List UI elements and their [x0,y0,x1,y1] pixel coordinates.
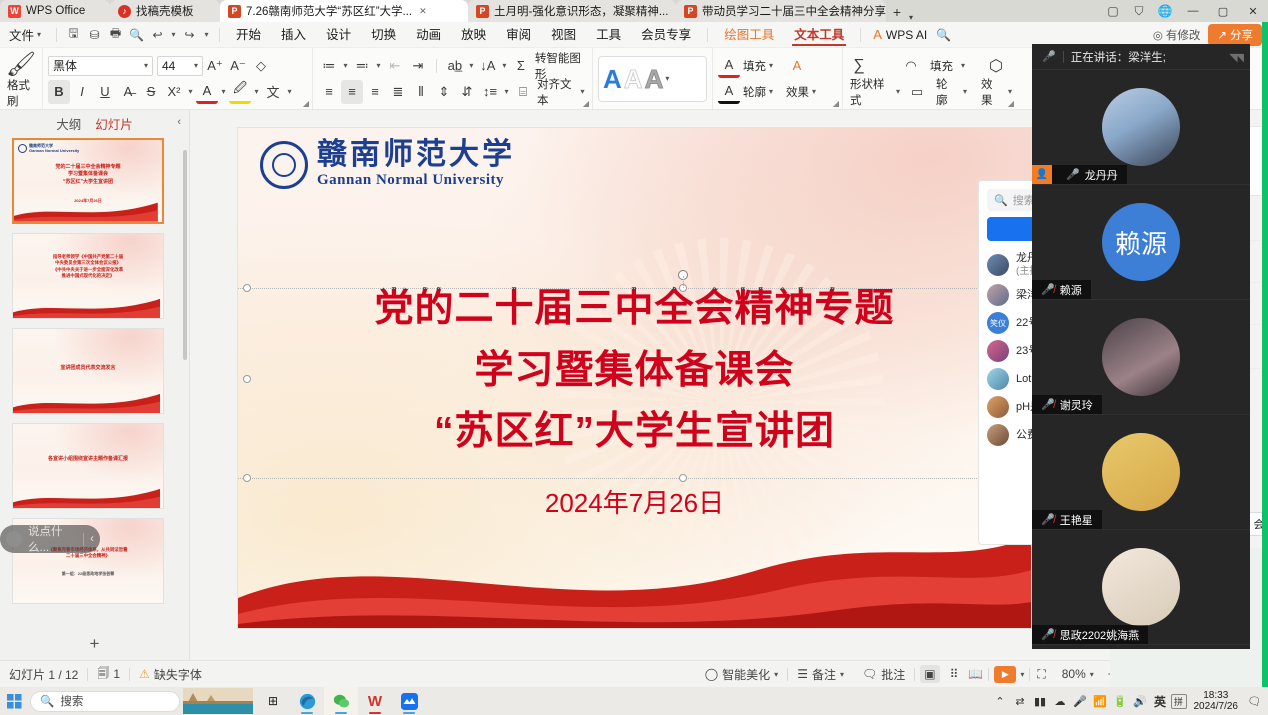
undo-icon[interactable]: ↩ [147,24,168,45]
thumb-logo-text: 赣南师范大学Gannan Normal University [29,144,79,153]
align-left-icon[interactable]: ≡ [318,80,340,104]
active-indicator [403,712,415,714]
logo-text-block: 赣南师范大学 Gannan Normal University [317,140,515,189]
mic-off-icon: 🎤̸ [1032,283,1055,296]
video-tile[interactable]: 赖源 🎤̸ 赖源 [1032,185,1250,300]
wps-office-window: W WPS Office ♪ 找稿壳模板 P 7.26赣南师范大学“苏区红”大学… [0,0,1268,715]
wifi-icon[interactable]: 📶 [1091,687,1110,715]
notes-toggle-button[interactable]: ☰ 备注 ▾ [788,666,853,683]
shape-style-label[interactable]: 形状样式 [848,76,890,108]
divider [83,533,84,546]
slide-title-textbox[interactable]: 党的二十届三中全会精神专题 学习暨集体备课会 “苏区红”大学生宣讲团 [238,278,1031,463]
ribbon-group-font: 黑体 ▾ 44 ▾ A⁺ A⁻ ◇ B I U A̶ S X² ▾ A [42,48,312,109]
warning-icon: ⚠ [139,667,150,681]
strikethrough-button[interactable]: S [140,80,162,104]
taskbar-search-input[interactable]: 🔍 搜索 [30,691,180,712]
maximize-button[interactable]: ▢ [1208,0,1238,22]
tab-review[interactable]: 审阅 [496,22,541,48]
slide-counter: 幻灯片 1 / 12 [0,666,87,683]
participant-name: 王艳星 [1060,512,1093,528]
increase-paragraph-spacing-icon[interactable]: ⇕ [433,80,455,104]
divider [219,28,220,42]
wps-icon: W [8,5,21,18]
collapse-pane-icon[interactable]: ‹ [177,116,181,128]
wordart-style-2[interactable]: A [624,66,643,92]
italic-button[interactable]: I [71,80,93,104]
share-label: 分享 [1230,27,1253,43]
split-view-icon[interactable]: ▢ [1100,0,1126,22]
close-icon[interactable]: ✕ [419,6,427,17]
tab-wps-office[interactable]: W WPS Office [0,0,110,22]
chevron-up-icon[interactable]: ⌃ [991,687,1010,715]
customize-quick-access-icon[interactable]: ▾ [200,24,213,45]
divider [860,28,861,42]
ai-sparkle-icon: A [873,27,882,42]
tab-start[interactable]: 开始 [226,22,271,48]
search-icon: 🔍 [994,194,1008,207]
increase-font-size-icon[interactable]: A⁺ [204,54,226,78]
ribbon-group-text-style: A 填充 ▾ A A 轮廓 ▾ 效果 ▾ ◢ [712,48,842,109]
weather-widget[interactable] [180,687,256,715]
shape-fill-icon[interactable]: ◠ [900,54,922,78]
format-painter-label: 格式刷 [5,77,37,109]
settings-icon[interactable]: ⇄ [1011,687,1030,715]
share-icon: ↗ [1217,28,1227,42]
font-color-icon[interactable]: A [196,80,218,104]
comment-icon: 🗨 [862,667,877,681]
text-outline-label[interactable]: 轮廓 [741,84,768,100]
chat-collapse-icon[interactable]: ‹ [90,533,94,545]
language-count: 1 [113,667,120,681]
avatar [1102,548,1180,626]
chevron-down-icon[interactable]: ▾ [963,87,967,96]
active-indicator [301,712,313,714]
search-placeholder: 搜索 [60,693,83,709]
system-tray: ⌃ ⇄ ▮▮ ☁ 🎤 📶 🔋 🔊 英 拼 18:33 2024/7/26 🗨 [991,687,1268,715]
avatar-initials: 赖源 [1102,203,1180,281]
participant-name: 赖源 [1060,282,1082,298]
slide-thumb-4[interactable]: 各宣讲小组围绕宣讲主题作备课汇报 [12,423,164,509]
selection-guide-bottom [238,478,1031,479]
red-dot-icon: ♪ [118,5,131,18]
avatar [987,340,1009,362]
chat-placeholder: 说点什么... [28,523,77,555]
text-fill-icon[interactable]: A [718,54,740,78]
text-style-dialog-launcher[interactable]: ◢ [833,99,839,108]
tab-label: 带动员学习二十届三中全会精神分享... [702,3,886,19]
chevron-down-icon: ▾ [144,61,148,70]
task-view-icon[interactable]: ⊞ [256,687,290,715]
slideshow-play-button[interactable]: ▶ ▾ [989,666,1029,683]
resize-handle-top-left[interactable] [243,284,251,292]
selection-guide-top [238,288,1031,289]
numbered-list-icon[interactable]: ≕ [351,54,373,78]
shape-outline-icon[interactable]: ▭ [906,80,928,104]
comment-label: 批注 [881,666,905,683]
thumb-subtitle: 第一组：22级思政地学张芸藜 [13,571,163,577]
logo-chinese-name: 赣南师范大学 [317,140,515,170]
avatar [1102,318,1180,396]
font-dialog-launcher[interactable]: ◢ [303,99,309,108]
underline-button[interactable]: U [94,80,116,104]
meeting-icon[interactable] [392,687,426,715]
tab-slides[interactable]: 幻灯片 [95,114,133,133]
zoom-level[interactable]: 80% ▾ [1053,667,1103,681]
mic-icon: 🎤 [1042,50,1056,63]
notes-icon: ☰ [797,667,808,681]
chevron-down-icon[interactable]: ▾ [377,61,381,70]
missing-font-warning[interactable]: ⚠ 缺失字体 [130,666,211,683]
chevron-down-icon[interactable]: ▾ [896,87,900,96]
mic-off-icon: 🎤̸ [1032,628,1055,641]
search-icon[interactable]: 🔍 [933,24,954,45]
redo-icon: ↪ [179,24,200,45]
wordart-style-1[interactable]: A [603,66,622,92]
chevron-down-icon[interactable]: ▾ [469,61,473,70]
divider [436,59,437,73]
file-menu[interactable]: 文件 ▾ [0,25,50,44]
text-fill-label[interactable]: 填充 [741,58,768,74]
slide-thumb-1[interactable]: 赣南师范大学Gannan Normal University 党的二十届三中全会… [12,138,164,224]
participant-name: 谢灵玲 [1060,397,1093,413]
thumbnail-item[interactable]: 宣讲团成员代表交流发言 [12,328,189,414]
ppt-icon: P [684,5,697,18]
mic-icon: 🎤 [1057,168,1080,181]
tab-design[interactable]: 设计 [316,22,361,48]
globe-icon[interactable]: 🌐 [1152,0,1178,22]
meeting-logo [401,693,418,710]
video-tile[interactable]: 🎤̸ 王艳星 [1032,415,1250,530]
slide-thumbnail-pane: 大纲 幻灯片 ‹ 赣南师范大学Gannan Normal University … [0,110,190,660]
chevron-down-icon: ▾ [194,61,198,70]
language-icon: 🗐 [97,664,109,685]
participant-tag: 🎤̸ 谢灵玲 [1032,395,1102,414]
tab-view[interactable]: 视图 [541,22,586,48]
taskbar-clock[interactable]: 18:33 2024/7/26 [1188,690,1245,713]
ribbon-group-clipboard: 🖌 格式刷 [0,48,42,109]
thumbnail-item[interactable]: 指导老师领学《中国共产党第二十届 中央委员会第三次全体会议公报》 《中共中央关于… [12,233,189,319]
avatar: 笑仪 [987,312,1009,334]
chevron-down-icon[interactable]: ▾ [961,61,965,70]
print-preview-icon[interactable]: 🔍 [126,24,147,45]
chevron-down-icon[interactable]: ▾ [909,13,913,22]
increase-indent-icon[interactable]: ⇥ [407,54,429,78]
save-icon[interactable]: 🖫 [63,24,84,45]
thumb-title: 宣讲团成员代表交流发言 [19,365,157,372]
tab-member-exclusive[interactable]: 会员专享 [631,22,701,48]
comment-button[interactable]: 🗨 批注 [853,666,914,683]
participant-tag: 🎤̸ 赖源 [1032,280,1091,299]
ime-language-indicator[interactable]: 英 [1151,687,1170,715]
video-tile[interactable]: 🎤̸ 谢灵玲 [1032,300,1250,415]
resize-handle-mid-left[interactable] [243,375,251,383]
onedrive-icon[interactable]: ☁ [1051,687,1070,715]
clock-date: 2024/7/26 [1194,701,1239,713]
participant-name: 龙丹丹 [1085,167,1118,183]
notification-icon[interactable]: 🗨 [1245,687,1264,715]
align-text-label[interactable]: 对齐文本 [535,76,577,108]
tab-insert[interactable]: 插入 [271,22,316,48]
tab-transition[interactable]: 切换 [361,22,406,48]
share-button[interactable]: ↗ 分享 [1208,24,1262,46]
highlight-color-icon[interactable]: 🖉 [229,80,251,104]
resize-handle-bottom-center[interactable] [679,474,687,482]
chevron-down-icon[interactable]: ▾ [769,61,773,70]
slide-sorter-icon[interactable]: ⠿ [945,667,964,681]
bullet-list-icon[interactable]: ≔ [318,54,340,78]
sort-icon[interactable]: ↓A [477,54,499,78]
tab-ppt-gannan[interactable]: P 7.26赣南师范大学“苏区红”大学... ✕ [220,0,468,22]
avatar [987,396,1009,418]
avatar [987,424,1009,446]
tab-drawing-tools[interactable]: 绘图工具 [714,22,784,48]
university-seal-icon [260,141,308,189]
host-icon: 👤 [1032,165,1052,184]
thumbnail-scrollbar[interactable] [183,150,187,360]
ime-mode-indicator[interactable]: 拼 [1171,694,1187,709]
active-indicator [335,712,347,714]
chevron-down-icon: ▾ [1020,670,1024,679]
avatar-initials-text: 赖源 [1115,224,1167,261]
logo-english-name: Gannan Normal University [317,172,515,189]
participant-tag: 👤 🎤 龙丹丹 [1032,165,1127,184]
pane-tabs: 大纲 幻灯片 ‹ [0,110,189,136]
bold-button[interactable]: B [48,80,70,104]
chevron-down-icon[interactable]: ▾ [344,61,348,70]
university-logo[interactable]: 赣南师范大学 Gannan Normal University [260,140,515,189]
language-indicator[interactable]: 🗐 1 [88,664,129,685]
cloud-save-icon[interactable]: ⛁ [84,24,105,45]
divider [707,28,708,42]
add-slide-button[interactable]: + [0,634,189,654]
chat-avatar-icon [6,531,22,547]
mic-off-icon: 🎤̸ [1032,513,1055,526]
chevron-down-icon: ▾ [1090,670,1094,679]
floating-chat-input[interactable]: 说点什么... ‹ [0,525,100,553]
text-effect-icon[interactable]: 文 [262,80,284,104]
edge-icon[interactable] [290,687,324,715]
magic-wand-icon: ◯ [705,667,718,681]
close-button[interactable]: ✕ [1238,0,1268,22]
fit-to-window-icon[interactable]: ⛶ [1030,667,1052,682]
participant-name: 思政2202姚海燕 [1060,627,1139,643]
thumb-title: 党的二十届三中全会精神专题 学习暨集体备课会 “苏区红”大学生宣讲团 [20,164,156,186]
font-name-select[interactable]: 黑体 ▾ [48,56,153,76]
clock-time: 18:33 [1194,690,1239,702]
volume-icon[interactable]: 🔊 [1131,687,1150,715]
ribbon-group-paragraph: ≔ ▾ ≕ ▾ ⇤ ⇥ ab̲ ▾ ↓A ▾ Σ 转智能图形 ≡ ≡ ≡ ≣ ⦀ [312,48,592,109]
text-effect-big-icon[interactable]: A [786,54,808,78]
battery-icon[interactable]: 🔋 [1111,687,1130,715]
wechat-icon[interactable] [324,687,358,715]
chevron-down-icon[interactable]: ▾ [168,24,179,45]
convert-to-smartart-icon[interactable]: Σ [510,54,532,78]
tab-animation[interactable]: 动画 [406,22,451,48]
font-size-select[interactable]: 44 ▾ [157,56,203,76]
chevron-down-icon: ▾ [774,670,778,679]
thumbnail-item[interactable]: 各宣讲小组围绕宣讲主题作备课汇报 [12,423,189,509]
tab-text-tools[interactable]: 文本工具 [784,22,854,48]
justify-icon[interactable]: ≣ [387,80,409,104]
normal-view-icon[interactable]: ▣ [915,665,944,683]
wps-logo: W [368,693,382,710]
align-center-icon[interactable]: ≡ [341,80,363,104]
chevron-down-icon[interactable]: ▾ [502,61,506,70]
superscript-icon[interactable]: X² [163,80,185,104]
slide-editor[interactable]: 赣南师范大学 Gannan Normal University 党的二十届三中全… [238,128,1031,628]
resize-handle-bottom-left[interactable] [243,474,251,482]
search-icon: 🔍 [40,694,54,708]
video-tile[interactable]: 🎤̸ 思政2202姚海燕 [1032,530,1250,645]
distribute-icon[interactable]: ⦀ [410,80,432,104]
chevron-down-icon[interactable]: ▾ [222,87,226,96]
missing-font-label: 缺失字体 [154,666,202,683]
browser-tabstrip: W WPS Office ♪ 找稿壳模板 P 7.26赣南师范大学“苏区红”大学… [0,0,1268,22]
tab-tools[interactable]: 工具 [586,22,631,48]
wps-ai-label: WPS AI [886,28,927,42]
avatar [987,284,1009,306]
text-direction-icon[interactable]: ab̲ [444,54,466,78]
meeting-speaking-header: 🎤 正在讲话：梁洋生; ◥◥ [1032,44,1250,70]
thumb-wave-decoration [13,293,160,318]
avatar [987,254,1009,276]
decrease-paragraph-spacing-icon[interactable]: ⇵ [456,80,478,104]
thumb-title: 指导老师领学《中国共产党第二十届 中央委员会第三次全体会议公报》 《中共中央关于… [19,254,157,280]
chevron-down-icon[interactable]: ▾ [812,87,816,96]
meeting-video-panel[interactable]: 🎤 正在讲话：梁洋生; ◥◥ 👤 🎤 龙丹丹 赖源 🎤̸ 赖源 [1032,44,1250,649]
zoom-value: 80% [1062,667,1086,681]
tab-ppt-share[interactable]: P 带动员学习二十届三中全会精神分享... [676,0,886,22]
title-line-2: 学习暨集体备课会 [238,340,1031,402]
wordart-style-3[interactable]: A [645,66,664,92]
thumb-wave-decoration [13,388,160,413]
chevron-down-icon[interactable]: ▾ [505,87,509,96]
font-size-value: 44 [162,59,175,73]
smart-beautify-button[interactable]: ◯ 智能美化 ▾ [696,666,787,683]
wps-icon[interactable]: W [358,687,392,715]
tab-label: WPS Office [26,5,85,17]
slide-thumb-3[interactable]: 宣讲团成员代表交流发言 [12,328,164,414]
participant-tag: 🎤̸ 王艳星 [1032,510,1102,529]
thumb-title: 各宣讲小组围绕宣讲主题作备课汇报 [19,456,157,463]
screen-share-border [1262,22,1268,715]
network-monitor-icon[interactable]: ▮▮ [1031,687,1050,715]
print-icon[interactable]: 🖶 [105,24,126,45]
chevron-down-icon[interactable]: ▾ [189,87,193,96]
notes-label: 备注 [812,666,836,683]
active-indicator [369,712,381,714]
windows-taskbar: 🔍 搜索 ⊞ [0,687,1268,715]
status-bar: 幻灯片 1 / 12 🗐 1 ⚠ 缺失字体 ◯ 智能美化 ▾ ☰ 备注 ▾ 🗨 … [0,660,1268,687]
avatar [1102,433,1180,511]
windows-icon[interactable] [0,687,28,715]
chevron-down-icon: ▾ [37,30,41,39]
mic-icon[interactable]: 🎤 [1071,687,1090,715]
shield-icon[interactable]: ⛉ [1126,0,1152,22]
window-controls: ▢ ⛉ 🌐 — ▢ ✕ [1100,0,1268,22]
windows-logo [7,694,22,709]
ribbon-group-shape-style: ∑ ◠ 填充 ▾ ⬡ 形状样式 ▾ ▭ 轮廓 ▾ 效果 ▾ ◢ [842,48,1017,109]
tab-slideshow[interactable]: 放映 [451,22,496,48]
shape-fill-label[interactable]: 填充 [928,58,955,74]
shape-effect-label[interactable]: 效果 [979,76,1002,108]
ppt-icon: P [228,5,241,18]
tab-outline[interactable]: 大纲 [56,114,81,133]
edge-logo [299,693,316,710]
mic-off-icon: 🎤̸ [1032,398,1055,411]
chevron-down-icon[interactable]: ▾ [1008,87,1012,96]
thumb-logo: 赣南师范大学Gannan Normal University [18,144,79,153]
smart-beautify-label: 智能美化 [722,666,770,683]
text-effect-label[interactable]: 效果 [784,84,811,100]
title-line-3: “苏区红”大学生宣讲团 [238,401,1031,463]
tab-label: 土月明-强化意识形态，凝聚精神... [494,3,668,19]
reading-view-icon[interactable]: 📖 [963,667,988,681]
file-menu-label: 文件 [9,25,34,44]
wordart-more-icon[interactable]: ▾ [665,74,669,83]
thumbnail-item[interactable]: 赣南师范大学Gannan Normal University 党的二十届三中全会… [12,138,189,224]
font-name-value: 黑体 [53,57,77,74]
tab-label: 找稿壳模板 [136,3,194,19]
bridge-image [183,688,253,714]
align-right-icon[interactable]: ≡ [364,80,386,104]
thumb-wave-decoration [13,483,160,508]
speaking-label: 正在讲话：梁洋生; [1071,49,1166,65]
tab-template-search[interactable]: ♪ 找稿壳模板 [110,0,220,22]
slide-wave-decoration [238,478,1031,628]
thumb-wave-decoration [14,197,158,222]
modified-label: 有修改 [1166,27,1201,43]
minimize-button[interactable]: — [1178,0,1208,22]
wordart-gallery[interactable]: A A A ▾ [598,56,707,102]
decrease-indent-icon: ⇤ [384,54,406,78]
collapse-chevrons-icon[interactable]: ◥◥ [1229,51,1242,64]
slide-thumb-2[interactable]: 指导老师领学《中国共产党第二十届 中央委员会第三次全体会议公报》 《中共中央关于… [12,233,164,319]
play-icon: ▶ [994,666,1016,683]
ppt-icon: P [476,5,489,18]
avatar [1102,88,1180,166]
video-tile[interactable]: 👤 🎤 龙丹丹 [1032,70,1250,185]
clear-formatting-icon[interactable]: ◇ [250,54,272,78]
tab-label: 7.26赣南师范大学“苏区红”大学... [246,3,412,19]
ribbon-group-wordart: A A A ▾ [592,48,712,109]
university-seal-icon [18,144,27,153]
new-tab-button[interactable]: + [886,2,908,22]
decrease-font-size-icon[interactable]: A⁻ [227,54,249,78]
divider [56,28,57,42]
chevron-down-icon[interactable]: ▾ [581,87,585,96]
align-text-icon[interactable]: ⌸ [512,80,534,104]
wechat-logo [333,693,350,710]
rotate-stem [683,276,684,288]
modified-status: ◎ 有修改 [1153,27,1201,43]
text-outline-icon[interactable]: A [718,80,740,104]
shape-effect-3d-icon[interactable]: ⬡ [985,54,1007,78]
participant-tag: 🎤̸ 思政2202姚海燕 [1032,625,1148,644]
shape-quick-style-icon[interactable]: ∑ [848,54,870,78]
shape-style-dialog-launcher[interactable]: ◢ [1008,99,1014,108]
chevron-down-icon[interactable]: ▾ [288,87,292,96]
tab-ppt-tuyueming[interactable]: P 土月明-强化意识形态，凝聚精神... [468,0,676,22]
paragraph-dialog-launcher[interactable]: ◢ [583,99,589,108]
chevron-down-icon[interactable]: ▾ [255,87,259,96]
avatar [987,368,1009,390]
character-border-icon[interactable]: A̶ [117,80,139,104]
line-spacing-icon[interactable]: ↕≡ [479,80,501,104]
shape-outline-label[interactable]: 轮廓 [934,76,957,108]
chevron-down-icon[interactable]: ▾ [769,87,773,96]
wps-ai-button[interactable]: A WPS AI [867,27,933,42]
